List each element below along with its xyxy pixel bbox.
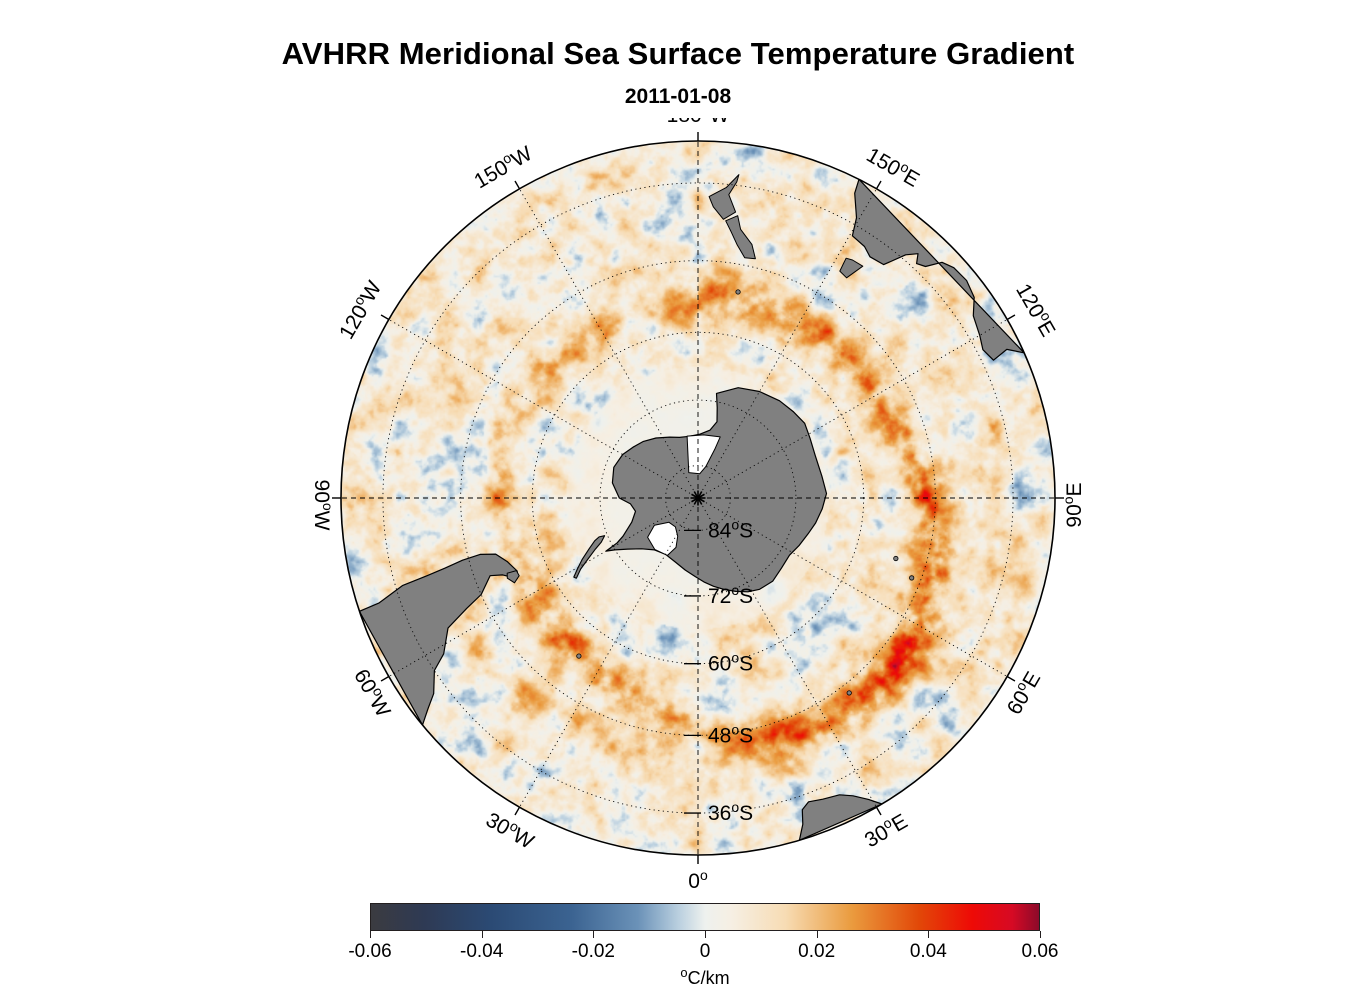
longitude-label: 120oE	[1011, 278, 1062, 340]
subantarctic-island	[909, 576, 913, 580]
colorbar-unit-label: oC/km	[370, 965, 1040, 989]
latitude-label: 72oS	[708, 582, 753, 608]
colorbar-tick-label: -0.04	[437, 941, 527, 963]
subantarctic-island	[577, 654, 581, 658]
longitude-tick	[381, 315, 389, 320]
colorbar-tick-label: -0.06	[325, 941, 415, 963]
longitude-tick	[515, 181, 520, 189]
longitude-label: 120oW	[332, 276, 386, 343]
colorbar-tick	[928, 931, 929, 938]
colorbar-tick-label: 0	[660, 941, 750, 963]
figure-root: AVHRR Meridional Sea Surface Temperature…	[0, 0, 1356, 1000]
latitude-label: 48oS	[708, 721, 753, 747]
longitude-tick	[381, 677, 389, 682]
colorbar-tick	[593, 931, 594, 938]
latitude-label: 84oS	[708, 516, 753, 542]
longitude-label: 0o	[688, 867, 708, 888]
colorbar-tick	[1040, 931, 1041, 938]
longitude-label: 150oE	[862, 141, 924, 192]
subantarctic-island	[894, 556, 898, 560]
colorbar-tick-label: 0.04	[883, 941, 973, 963]
figure-title: AVHRR Meridional Sea Surface Temperature…	[0, 36, 1356, 72]
figure-subtitle: 2011-01-08	[0, 85, 1356, 109]
longitude-tick	[877, 807, 882, 815]
longitude-label: 90oE	[1060, 482, 1086, 527]
colorbar-tick	[817, 931, 818, 938]
map-canvas: 84oS72oS60oS48oS36oS0o30oE60oE90oE120oE1…	[298, 118, 1098, 888]
colorbar-tick	[370, 931, 371, 938]
latitude-label: 36oS	[708, 799, 753, 825]
longitude-label: 30oE	[859, 807, 911, 852]
subantarctic-island	[847, 691, 851, 695]
longitude-tick	[877, 181, 882, 189]
polar-map: 84oS72oS60oS48oS36oS0o30oE60oE90oE120oE1…	[298, 118, 1098, 888]
longitude-tick	[1007, 315, 1015, 320]
latitude-label: 60oS	[708, 650, 753, 676]
colorbar-gradient[interactable]	[370, 903, 1040, 931]
longitude-tick	[515, 807, 520, 815]
colorbar: -0.06-0.04-0.0200.020.040.06 oC/km	[370, 903, 1040, 993]
colorbar-tick-label: -0.02	[548, 941, 638, 963]
colorbar-tick	[482, 931, 483, 938]
colorbar-tick-label: 0.06	[995, 941, 1085, 963]
subantarctic-island	[736, 290, 740, 294]
longitude-label: 180oW	[667, 118, 730, 127]
longitude-label: 90oW	[310, 480, 336, 531]
colorbar-tick	[705, 931, 706, 938]
colorbar-tick-label: 0.02	[772, 941, 862, 963]
